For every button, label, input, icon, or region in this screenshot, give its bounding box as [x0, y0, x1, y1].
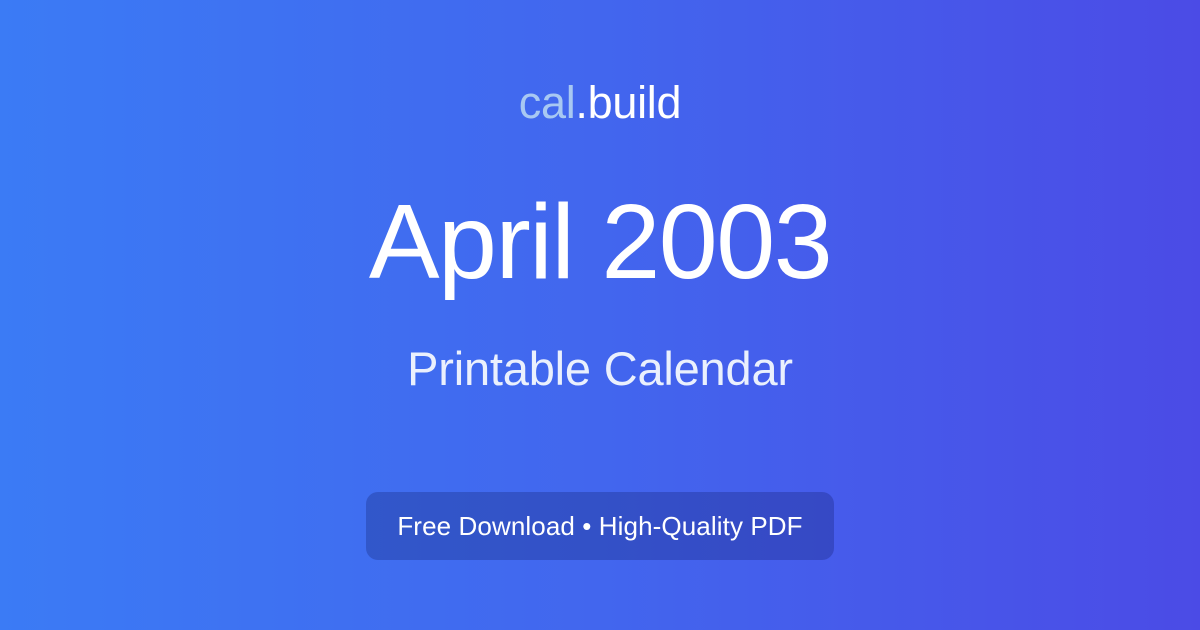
page-title: April 2003 [369, 178, 831, 307]
hero-subtitle-container: Printable Calendar [0, 334, 1200, 405]
download-badge[interactable]: Free Download • High-Quality PDF [366, 492, 833, 560]
hero-title-container: April 2003 [0, 178, 1200, 307]
og-card: cal.build April 2003 Printable Calendar … [0, 0, 1200, 630]
badge-container: Free Download • High-Quality PDF [0, 492, 1200, 560]
brand-name-secondary: .build [575, 80, 681, 125]
page-subtitle: Printable Calendar [407, 334, 793, 405]
brand-name-primary: cal [519, 80, 576, 125]
brand-logo[interactable]: cal.build [0, 0, 1200, 205]
